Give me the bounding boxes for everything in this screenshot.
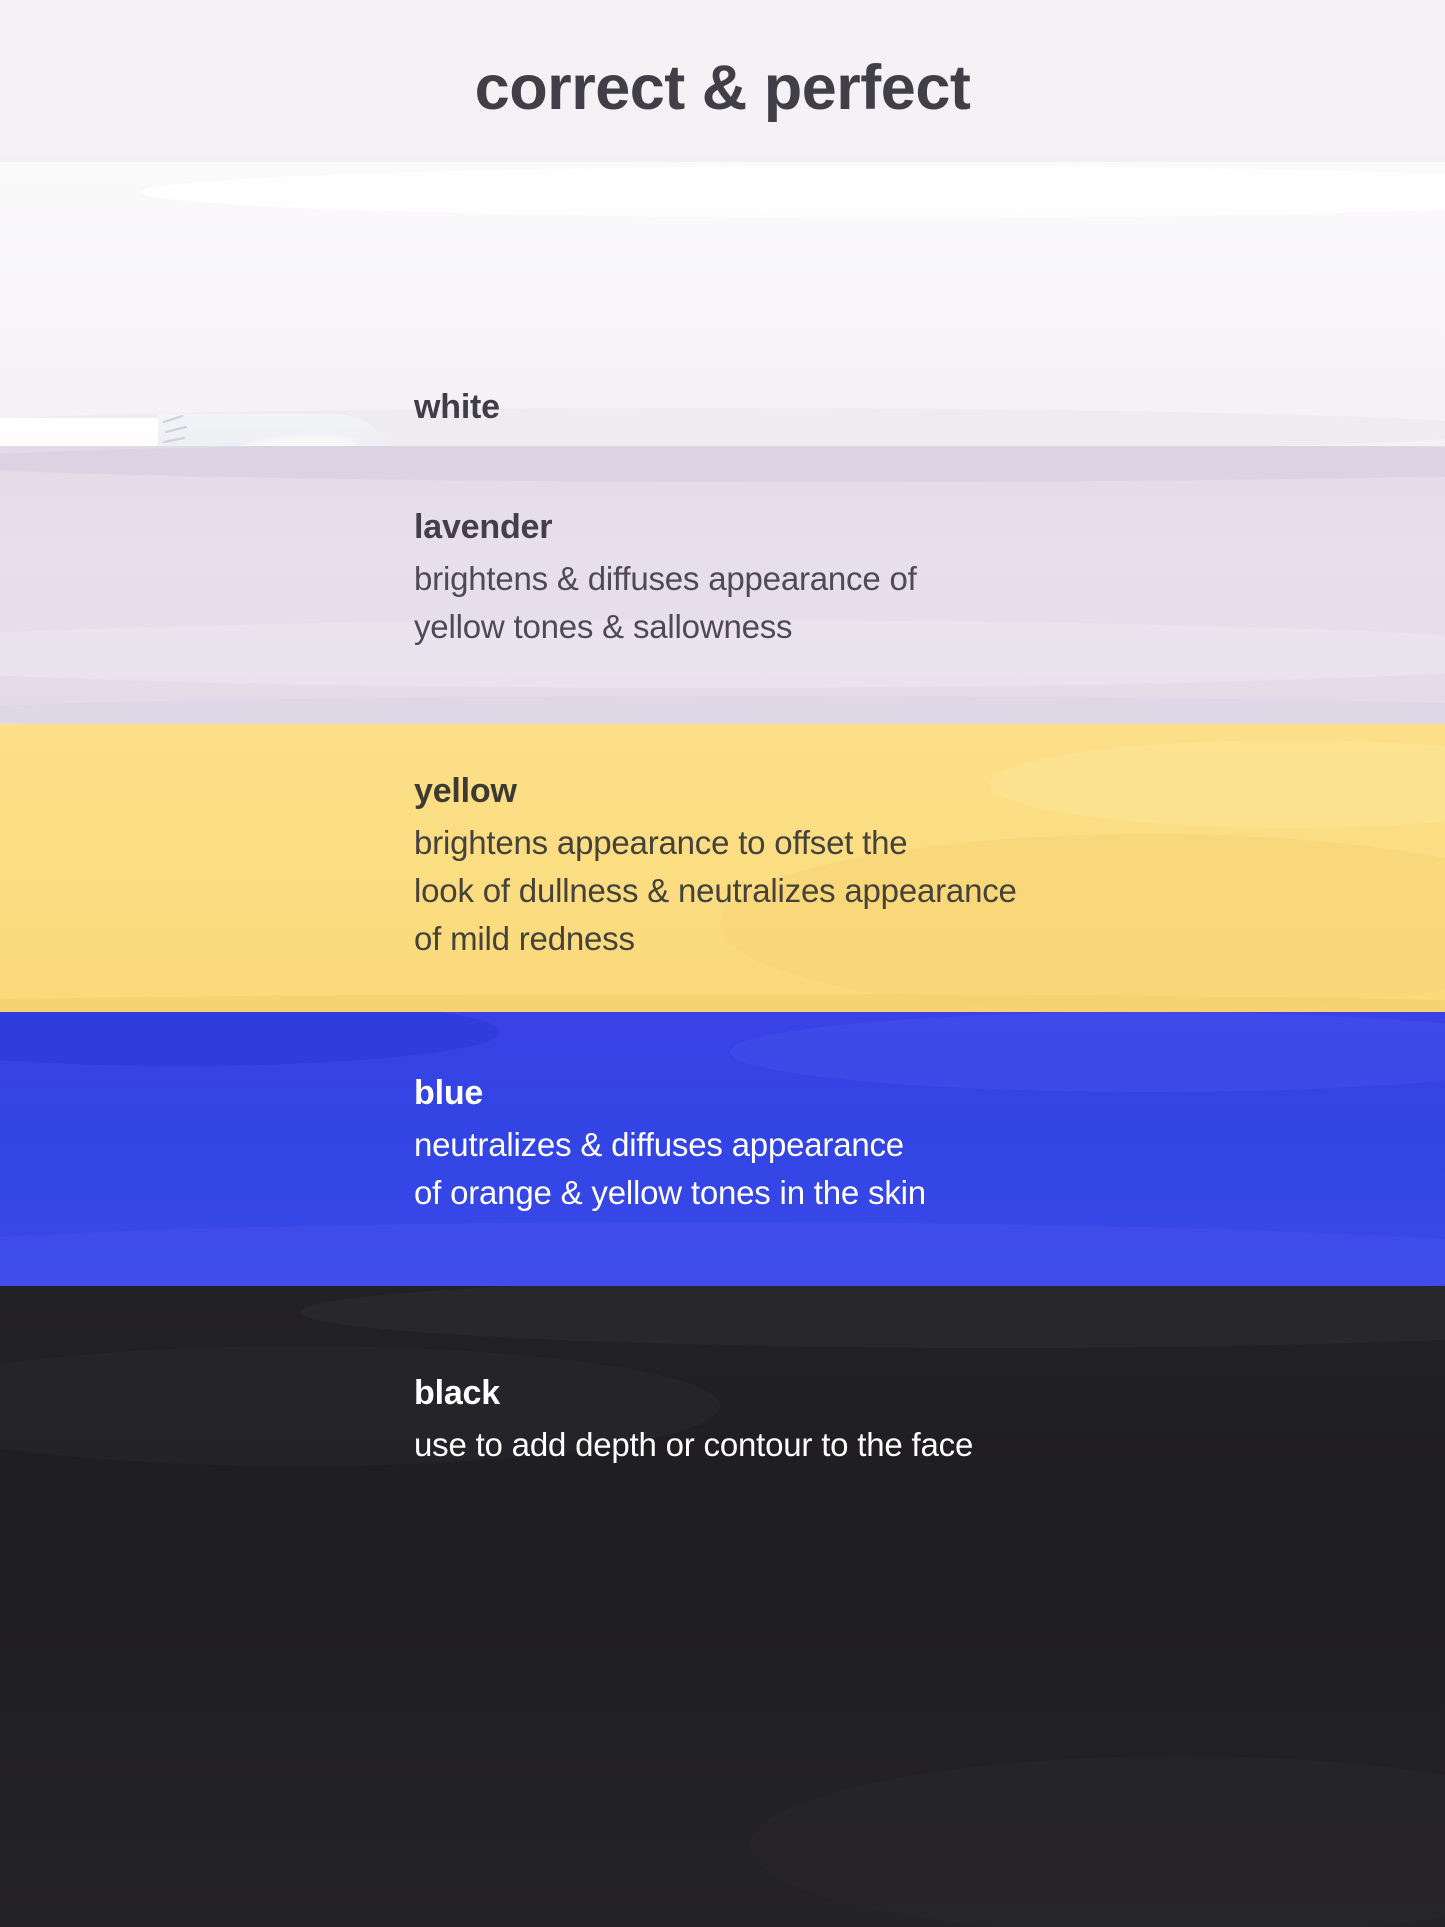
wand-bristles-icon <box>152 408 216 446</box>
shade-section-yellow[interactable]: yellow brightens appearance to offset th… <box>0 724 1445 1012</box>
shade-name-yellow: yellow <box>414 772 1017 811</box>
wand-handle <box>0 418 170 446</box>
shade-text-block-yellow: yellow brightens appearance to offset th… <box>414 772 1017 963</box>
applicator-wand-white <box>0 418 430 446</box>
shade-description-blue: neutralizes & diffuses appearance of ora… <box>414 1121 926 1217</box>
shade-name-lavender: lavender <box>414 508 917 547</box>
shade-description-white: adds brightness — mix to customize your … <box>414 435 937 446</box>
shade-description-yellow: brightens appearance to offset the look … <box>414 819 1017 963</box>
shade-section-lavender[interactable]: lavender brightens & diffuses appearance… <box>0 446 1445 724</box>
shade-text-block-blue: blue neutralizes & diffuses appearance o… <box>414 1074 926 1217</box>
page-title: correct & perfect <box>475 52 971 124</box>
shade-name-white: white <box>414 388 937 427</box>
shade-text-block-black: black use to add depth or contour to the… <box>414 1374 973 1469</box>
shade-section-white[interactable]: white adds brightness — mix to customize… <box>0 162 1445 446</box>
shade-text-block-white: white adds brightness — mix to customize… <box>414 388 937 446</box>
product-shade-guide: correct & perfect white adds brightness … <box>0 0 1445 1927</box>
shade-description-lavender: brightens & diffuses appearance of yello… <box>414 555 917 651</box>
shade-name-black: black <box>414 1374 973 1413</box>
shade-name-blue: blue <box>414 1074 926 1113</box>
shade-section-black[interactable]: black use to add depth or contour to the… <box>0 1286 1445 1927</box>
shade-description-black: use to add depth or contour to the face <box>414 1421 973 1469</box>
shade-text-block-lavender: lavender brightens & diffuses appearance… <box>414 508 917 651</box>
shade-section-blue[interactable]: blue neutralizes & diffuses appearance o… <box>0 1012 1445 1286</box>
